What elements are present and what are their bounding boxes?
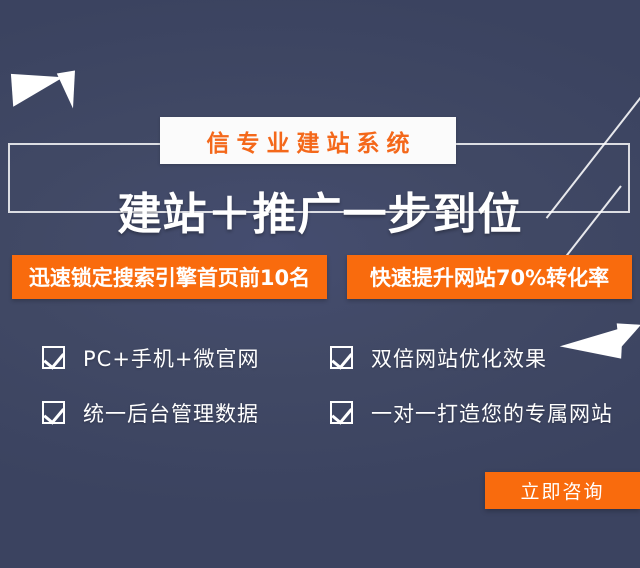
list-item: 双倍网站优化效果: [320, 343, 640, 373]
checkbox-checked-icon: [42, 401, 65, 424]
page-title: 建站＋推广一步到位: [0, 178, 640, 242]
feature-row: PC+手机+微官网 双倍网站优化效果: [0, 330, 640, 385]
eyebrow-text: 信专业建站系统: [200, 124, 417, 158]
feature-list: PC+手机+微官网 双倍网站优化效果 统一后台管理数据 一对一打造您的专属网站: [0, 330, 640, 440]
list-item: 统一后台管理数据: [0, 398, 320, 428]
list-item: 一对一打造您的专属网站: [320, 398, 640, 428]
highlight-pill-group: 迅速锁定搜索引擎首页前10名 快速提升网站70%转化率: [0, 255, 640, 299]
paper-plane-top-left-icon: [12, 58, 90, 114]
highlight-pill-conversion-rate: 快速提升网站70%转化率: [347, 255, 632, 299]
feature-label: 一对一打造您的专属网站: [371, 398, 613, 428]
checkbox-checked-icon: [330, 401, 353, 424]
consult-now-button[interactable]: 立即咨询: [485, 472, 640, 509]
highlight-pill-seo-ranking: 迅速锁定搜索引擎首页前10名: [12, 255, 327, 299]
checkbox-checked-icon: [42, 346, 65, 369]
checkbox-checked-icon: [330, 346, 353, 369]
eyebrow-plate: 信专业建站系统: [160, 117, 456, 164]
feature-label: 统一后台管理数据: [83, 398, 259, 428]
feature-label: 双倍网站优化效果: [371, 343, 547, 373]
promo-banner: 信专业建站系统 建站＋推广一步到位 迅速锁定搜索引擎首页前10名 快速提升网站7…: [0, 0, 640, 568]
feature-row: 统一后台管理数据 一对一打造您的专属网站: [0, 385, 640, 440]
feature-label: PC+手机+微官网: [83, 343, 260, 373]
list-item: PC+手机+微官网: [0, 343, 320, 373]
